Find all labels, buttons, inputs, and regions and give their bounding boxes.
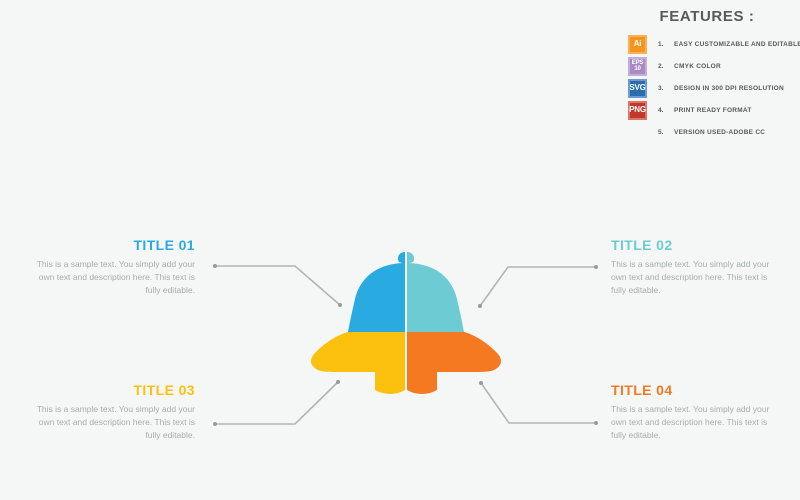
connector-dot-02-end (594, 265, 598, 269)
bell-path-bottom-left (311, 332, 405, 394)
feature-number-4: 4. (658, 107, 674, 114)
feature-item-1: Ai 1. EASY CUSTOMIZABLE AND EDITABLE (620, 33, 800, 55)
connector-dot-04-start (479, 381, 483, 385)
bell-knob-right (407, 252, 414, 264)
feature-label-1: EASY CUSTOMIZABLE AND EDITABLE (674, 41, 800, 48)
feature-number-2: 2. (658, 63, 674, 70)
connector-title-04 (479, 381, 598, 425)
eps-file-icon: EPS 10 (628, 57, 647, 76)
connector-title-03 (213, 380, 340, 426)
feature-badge-spacer (628, 123, 647, 142)
title-03-body: This is a sample text. You simply add yo… (23, 403, 195, 442)
bell-quadrant-top-right[interactable] (407, 252, 464, 332)
connector-dot-04-end (594, 421, 598, 425)
title-04-body: This is a sample text. You simply add yo… (611, 403, 783, 442)
bell-quadrant-top-left[interactable] (348, 252, 405, 332)
feature-number-3: 3. (658, 85, 674, 92)
connector-dot-03-start (213, 422, 217, 426)
svg-file-icon-label: SVG (629, 84, 645, 92)
feature-number-1: 1. (658, 41, 674, 48)
connector-dot-02-start (478, 304, 482, 308)
connector-dot-03-end (336, 380, 340, 384)
bell-chart (311, 252, 501, 394)
feature-item-5: 5. VERSION USED-ADOBE CC (620, 121, 800, 143)
title-01-heading: TITLE 01 (23, 238, 195, 252)
features-panel: FEATURES : Ai 1. EASY CUSTOMIZABLE AND E… (620, 4, 800, 134)
text-block-title-04: TITLE 04 This is a sample text. You simp… (611, 383, 783, 442)
feature-label-3: DESIGN IN 300 DPI RESOLUTION (674, 85, 784, 92)
feature-number-5: 5. (658, 129, 674, 136)
connector-line-04 (481, 383, 596, 423)
connector-line-03 (215, 382, 338, 424)
connector-title-01 (213, 264, 342, 307)
feature-item-4: PNG 4. PRINT READY FORMAT (620, 99, 800, 121)
feature-label-2: CMYK COLOR (674, 63, 721, 70)
svg-file-icon: SVG (628, 79, 647, 98)
title-02-body: This is a sample text. You simply add yo… (611, 258, 783, 297)
connector-title-02 (478, 265, 598, 308)
title-02-heading: TITLE 02 (611, 238, 783, 252)
ai-file-icon: Ai (628, 35, 647, 54)
feature-item-2: EPS 10 2. CMYK COLOR (620, 55, 800, 77)
png-file-icon: PNG (628, 101, 647, 120)
connector-dot-01-start (213, 264, 217, 268)
connector-line-02 (480, 267, 596, 306)
infographic-canvas: FEATURES : Ai 1. EASY CUSTOMIZABLE AND E… (0, 0, 800, 500)
text-block-title-02: TITLE 02 This is a sample text. You simp… (611, 238, 783, 297)
bell-path-top-left (348, 263, 405, 332)
eps-file-icon-label-line2: 10 (634, 66, 640, 73)
bell-path-bottom-right (407, 332, 501, 394)
connector-dot-01-end (338, 303, 342, 307)
features-title: FEATURES : (620, 8, 800, 25)
text-block-title-03: TITLE 03 This is a sample text. You simp… (23, 383, 195, 442)
bell-path-top-right (407, 263, 464, 332)
connector-line-01 (215, 266, 340, 305)
title-01-body: This is a sample text. You simply add yo… (23, 258, 195, 297)
title-04-heading: TITLE 04 (611, 383, 783, 397)
feature-label-4: PRINT READY FORMAT (674, 107, 752, 114)
feature-item-3: SVG 3. DESIGN IN 300 DPI RESOLUTION (620, 77, 800, 99)
png-file-icon-label: PNG (629, 106, 646, 114)
ai-file-icon-label: Ai (634, 40, 642, 48)
bell-quadrant-bottom-right[interactable] (407, 332, 501, 394)
feature-label-5: VERSION USED-ADOBE CC (674, 129, 765, 136)
text-block-title-01: TITLE 01 This is a sample text. You simp… (23, 238, 195, 297)
title-03-heading: TITLE 03 (23, 383, 195, 397)
bell-knob-left (398, 252, 405, 264)
